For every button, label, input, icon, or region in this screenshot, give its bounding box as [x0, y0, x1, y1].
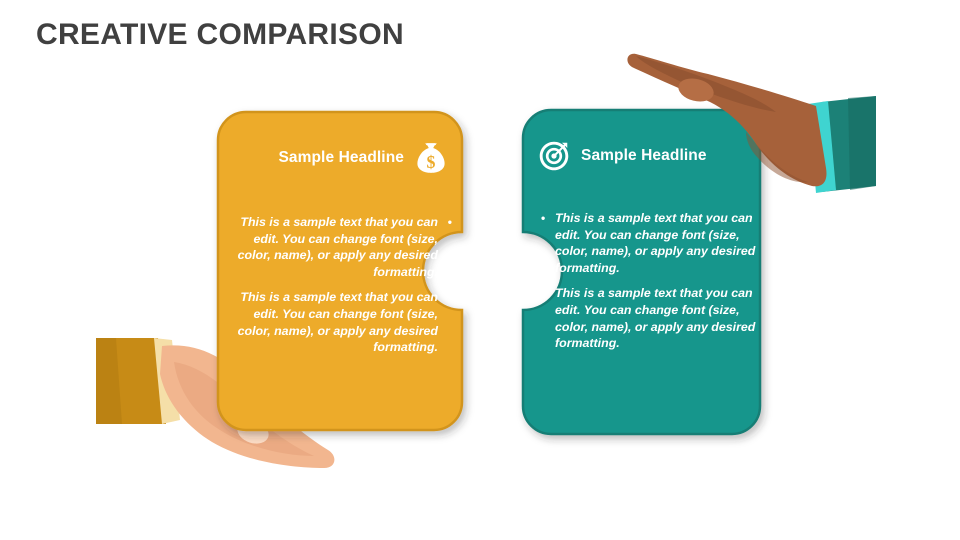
bullet-text: This is a sample text that you can edit.… [222, 289, 438, 355]
money-bag-icon: $ [414, 141, 448, 175]
svg-text:$: $ [427, 152, 436, 172]
right-card-content: Sample Headline • This is a sample text … [527, 130, 759, 425]
bullet-marker: • [541, 285, 555, 351]
left-card-headline: Sample Headline [278, 149, 404, 167]
bullet-marker: • [438, 214, 452, 280]
bullet-marker: • [541, 210, 555, 276]
right-card-headline-row: Sample Headline [527, 130, 759, 182]
left-card-headline-row: Sample Headline $ [222, 132, 454, 184]
puzzle-pieces-group [0, 0, 960, 540]
list-item: • This is a sample text that you can edi… [527, 285, 759, 351]
list-item: • This is a sample text that you can edi… [222, 289, 454, 355]
list-item: • This is a sample text that you can edi… [222, 214, 454, 280]
bullet-text: This is a sample text that you can edit.… [555, 285, 759, 351]
target-arrow-icon [537, 139, 571, 173]
bullet-marker: • [438, 289, 452, 355]
slide-canvas: CREATIVE COMPARISON [0, 0, 960, 540]
bullet-text: This is a sample text that you can edit.… [555, 210, 759, 276]
bullet-text: This is a sample text that you can edit.… [222, 214, 438, 280]
left-card-bullet-list: • This is a sample text that you can edi… [222, 214, 454, 356]
right-card-headline: Sample Headline [581, 147, 707, 165]
left-card-content: Sample Headline $ • This is a sample tex… [222, 132, 454, 422]
page-title: CREATIVE COMPARISON [36, 18, 404, 52]
list-item: • This is a sample text that you can edi… [527, 210, 759, 276]
right-card-bullet-list: • This is a sample text that you can edi… [527, 210, 759, 352]
